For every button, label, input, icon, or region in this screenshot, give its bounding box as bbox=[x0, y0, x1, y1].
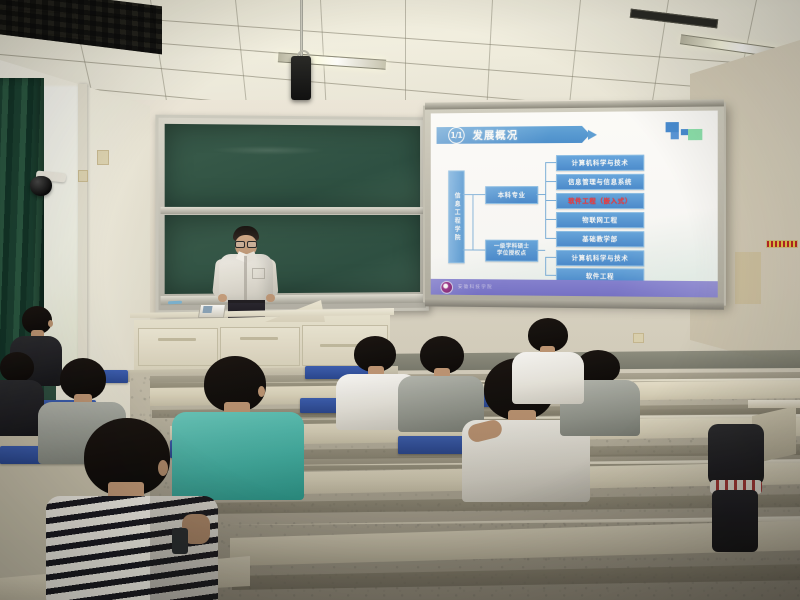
connector-spine bbox=[545, 257, 546, 275]
wall-stain bbox=[735, 252, 761, 304]
org-leaf-node: 信息管理与信息系统 bbox=[556, 174, 644, 190]
org-leaf-node: 物联网工程 bbox=[556, 212, 644, 228]
connector bbox=[545, 219, 556, 220]
org-leaf-node: 计算机科学与技术 bbox=[556, 250, 644, 267]
student-torso bbox=[512, 352, 584, 404]
connector bbox=[536, 250, 545, 251]
presenter-shirt-pocket bbox=[252, 268, 265, 279]
student-foreground bbox=[46, 418, 218, 600]
presenter-shirt-placket bbox=[244, 256, 247, 300]
connector bbox=[545, 257, 556, 258]
slide-section-badge: 1/1 bbox=[448, 127, 465, 144]
connector bbox=[545, 181, 556, 182]
student-ear bbox=[258, 386, 265, 397]
chalk-smudge bbox=[212, 146, 325, 155]
side-desk-top bbox=[748, 400, 800, 408]
student bbox=[700, 424, 770, 564]
lectern-handle bbox=[158, 338, 196, 341]
classroom-photo: 1/1 发展概况 信息工程学院 本科专业 一级学科硕士 学位授权点 bbox=[0, 0, 800, 600]
presenter-hand-left bbox=[218, 294, 227, 302]
glasses-icon bbox=[235, 241, 257, 246]
org-chart: 信息工程学院 本科专业 一级学科硕士 学位授权点 bbox=[440, 151, 709, 279]
phone bbox=[172, 528, 188, 554]
wall-socket bbox=[633, 333, 644, 343]
student-torso bbox=[708, 424, 764, 486]
university-logo-icon bbox=[440, 280, 453, 293]
slide-title-ribbon: 1/1 发展概况 bbox=[437, 126, 590, 144]
connector bbox=[545, 162, 556, 163]
connector bbox=[463, 194, 485, 195]
security-camera-icon bbox=[30, 176, 52, 196]
chalkboard-panel-lower bbox=[165, 215, 420, 294]
org-leaf-node: 计算机科学与技术 bbox=[556, 155, 644, 171]
chalkboard bbox=[155, 115, 428, 314]
connector bbox=[472, 194, 473, 249]
slide-title: 发展概况 bbox=[472, 127, 518, 142]
wall-plate bbox=[78, 170, 88, 182]
connector bbox=[536, 194, 545, 195]
student-ear bbox=[48, 320, 53, 327]
decor-square-green bbox=[688, 129, 702, 140]
wall-plate bbox=[97, 150, 109, 165]
org-branch-graduate: 一级学科硕士 学位授权点 bbox=[485, 240, 538, 262]
presenter-hand-right bbox=[266, 294, 275, 302]
decor-square-blue-mid bbox=[671, 132, 679, 139]
student-head bbox=[0, 352, 34, 382]
projector bbox=[291, 56, 311, 100]
student-torso bbox=[46, 496, 218, 600]
slide-footer: 安徽科技学院 bbox=[431, 279, 718, 298]
projection-screen: 1/1 发展概况 信息工程学院 本科专业 一级学科硕士 学位授权点 bbox=[423, 102, 726, 305]
connector bbox=[463, 249, 485, 250]
chalkboard-panel-upper bbox=[165, 124, 420, 207]
decor-square-blue-small bbox=[681, 129, 688, 135]
laptop-screen bbox=[202, 306, 212, 313]
org-leaf-node: 基础教学部 bbox=[556, 231, 644, 247]
presentation-slide: 1/1 发展概况 信息工程学院 本科专业 一级学科硕士 学位授权点 bbox=[431, 111, 718, 298]
wall-warning-sticker bbox=[766, 240, 798, 248]
presenter bbox=[214, 226, 280, 316]
lectern-handle bbox=[240, 337, 278, 340]
org-branch-undergraduate: 本科专业 bbox=[485, 186, 538, 204]
org-leaf-node-highlighted: 软件工程（嵌入式） bbox=[556, 193, 644, 209]
student-ear bbox=[158, 460, 168, 476]
chalkboard-center-rail bbox=[161, 207, 424, 214]
ribbon-arrow-icon bbox=[588, 130, 597, 140]
window-frame bbox=[78, 84, 87, 390]
connector bbox=[545, 200, 556, 201]
student-legs bbox=[712, 490, 758, 552]
student bbox=[512, 318, 584, 402]
connector bbox=[545, 238, 556, 239]
connector bbox=[545, 275, 556, 276]
university-name: 安徽科技学院 bbox=[458, 284, 493, 290]
decor-square-blue bbox=[666, 122, 679, 132]
